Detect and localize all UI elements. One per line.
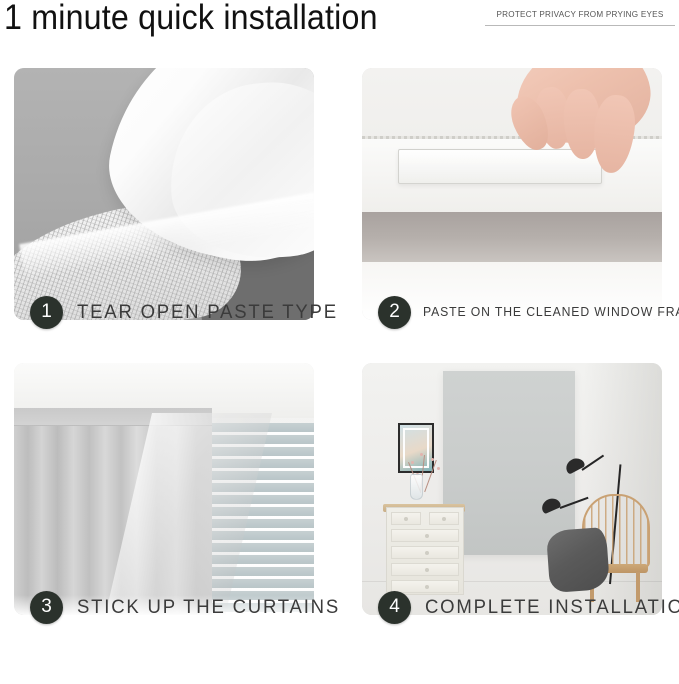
infographic-page: 1 minute quick installation PROTECT PRIV…: [0, 0, 679, 684]
step-caption-row-1: 1 TEAR OPEN PASTE TYPE: [14, 292, 314, 332]
step-caption-row-4: 4 COMPLETE INSTALLATION: [362, 587, 662, 627]
step-panel-2[interactable]: 2 PASTE ON THE CLEANED WINDOW FRAME: [362, 60, 662, 352]
step-badge-2: 2: [378, 296, 411, 329]
step-photo-3: [14, 363, 314, 615]
dresser-drawer: [391, 563, 459, 576]
step-caption-row-2: 2 PASTE ON THE CLEANED WINDOW FRAME: [362, 292, 662, 332]
step-panel-3[interactable]: 3 STICK UP THE CURTAINS: [14, 355, 314, 647]
header: 1 minute quick installation PROTECT PRIV…: [0, 0, 679, 56]
page-title: 1 minute quick installation: [4, 0, 378, 38]
step-badge-4: 4: [378, 591, 411, 624]
tagline-divider: [485, 25, 675, 26]
step-photo-4: [362, 363, 662, 615]
glass-vase: [410, 474, 423, 500]
step-caption-row-3: 3 STICK UP THE CURTAINS: [14, 587, 314, 627]
wall-band: [362, 212, 662, 262]
step-caption-2: PASTE ON THE CLEANED WINDOW FRAME: [423, 305, 679, 319]
step-photo-1: [14, 68, 314, 320]
dresser-drawer: [391, 512, 421, 525]
steps-grid: 1 TEAR OPEN PASTE TYPE: [0, 60, 679, 670]
throw-blanket: [546, 527, 610, 593]
step-badge-3: 3: [30, 591, 63, 624]
tagline-text: PROTECT PRIVACY FROM PRYING EYES: [488, 9, 672, 19]
step-panel-1[interactable]: 1 TEAR OPEN PASTE TYPE: [14, 60, 314, 352]
dresser: [386, 507, 464, 595]
step-caption-1: TEAR OPEN PASTE TYPE: [77, 301, 338, 324]
tagline-block: PROTECT PRIVACY FROM PRYING EYES: [485, 9, 675, 26]
step-photo-2: [362, 68, 662, 320]
step-panel-4[interactable]: 4 COMPLETE INSTALLATION: [362, 355, 662, 647]
dresser-drawer: [429, 512, 459, 525]
step-caption-4: COMPLETE INSTALLATION: [425, 596, 679, 619]
step-badge-1: 1: [30, 296, 63, 329]
dried-branches: [398, 449, 450, 494]
dresser-drawer: [391, 529, 459, 542]
hand: [500, 68, 650, 178]
step-caption-3: STICK UP THE CURTAINS: [77, 596, 340, 619]
dresser-drawer: [391, 546, 459, 559]
